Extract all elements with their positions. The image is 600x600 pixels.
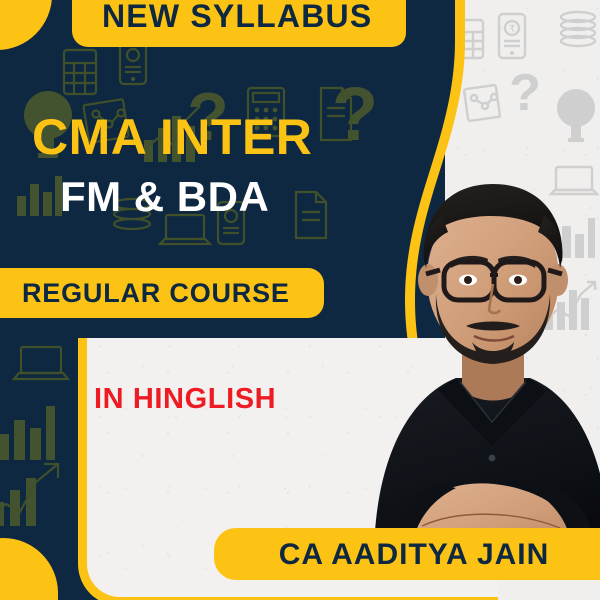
network-graph-icon [463, 82, 503, 124]
instructor-name-banner: CA AADITYA JAIN [214, 528, 600, 580]
question-mark-icon: ? [507, 66, 543, 126]
line-chart-icon [0, 460, 64, 530]
new-syllabus-banner: NEW SYLLABUS [72, 0, 406, 47]
document-icon [292, 190, 330, 240]
new-syllabus-label: NEW SYLLABUS [102, 0, 372, 34]
language-label: IN HINGLISH [94, 385, 276, 414]
bar-chart-icon [0, 400, 60, 462]
course-thumbnail-poster: ₹ ? [0, 0, 600, 600]
page-subtitle: FM & BDA [60, 176, 269, 218]
course-type-label: REGULAR COURSE [22, 279, 290, 308]
document-icon [316, 86, 356, 142]
instructor-name-label: CA AADITYA JAIN [244, 538, 584, 571]
bar-chart-icon [14, 172, 64, 218]
mobile-payment-icon: ₹ [497, 12, 527, 60]
page-title: CMA INTER [32, 112, 312, 162]
instructor-portrait [352, 128, 600, 560]
course-type-badge: REGULAR COURSE [0, 268, 324, 318]
mobile-payment-icon [118, 40, 148, 86]
svg-text:₹: ₹ [509, 24, 515, 35]
svg-text:?: ? [509, 66, 541, 122]
calculator-icon [62, 48, 98, 96]
coin-stack-icon [557, 10, 599, 52]
laptop-icon [12, 344, 70, 386]
